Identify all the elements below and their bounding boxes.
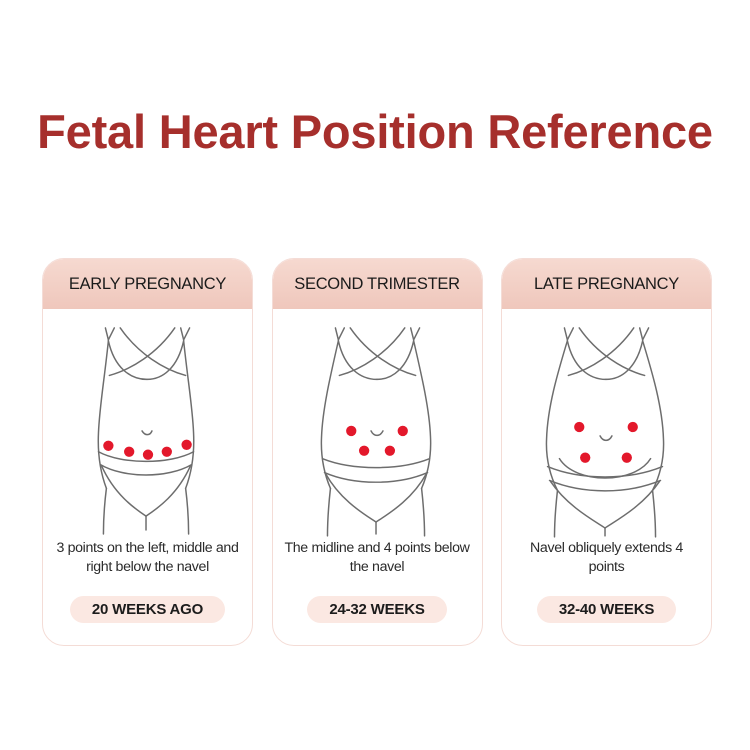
- card-caption: 3 points on the left, middle and right b…: [43, 539, 252, 596]
- heart-point-dot: [124, 447, 134, 457]
- card-badge-wrap: 20 WEEKS AGO: [43, 596, 252, 645]
- heart-point-dot: [358, 446, 368, 456]
- heart-point-dot: [346, 426, 356, 436]
- heart-point-dot: [181, 440, 191, 450]
- heart-point-dot: [103, 441, 113, 451]
- card-caption: The midline and 4 points below the navel: [273, 539, 482, 596]
- status-badge: 20 WEEKS AGO: [70, 596, 225, 623]
- heart-point-dot: [574, 422, 584, 432]
- early-pregnancy-torso: [43, 309, 252, 539]
- heart-point-dot: [143, 450, 153, 460]
- card-header-early: EARLY PREGNANCY: [43, 259, 252, 309]
- page-title: Fetal Heart Position Reference: [0, 104, 750, 160]
- heart-point-dot: [397, 426, 407, 436]
- card-header-late: LATE PREGNANCY: [502, 259, 711, 309]
- card-early-pregnancy[interactable]: EARLY PREGNANCY: [42, 258, 253, 646]
- status-badge: 32-40 WEEKS: [537, 596, 676, 623]
- second-trimester-torso: [273, 309, 482, 539]
- late-pregnancy-torso: [502, 309, 711, 539]
- card-second-trimester[interactable]: SECOND TRIMESTER: [272, 258, 483, 646]
- heart-point-dot: [622, 453, 632, 463]
- card-caption: Navel obliquely extends 4 points: [502, 539, 711, 596]
- card-header-label: SECOND TRIMESTER: [294, 275, 459, 294]
- card-header-second: SECOND TRIMESTER: [273, 259, 482, 309]
- heart-point-dot: [628, 422, 638, 432]
- heart-point-dot: [162, 447, 172, 457]
- status-badge: 24-32 WEEKS: [307, 596, 446, 623]
- card-header-label: LATE PREGNANCY: [534, 275, 679, 294]
- card-header-label: EARLY PREGNANCY: [69, 275, 226, 294]
- card-late-pregnancy[interactable]: LATE PREGNANCY: [501, 258, 712, 646]
- card-list: EARLY PREGNANCY: [42, 258, 712, 648]
- card-badge-wrap: 24-32 WEEKS: [273, 596, 482, 645]
- card-badge-wrap: 32-40 WEEKS: [502, 596, 711, 645]
- heart-point-dot: [384, 446, 394, 456]
- heart-point-dot: [580, 453, 590, 463]
